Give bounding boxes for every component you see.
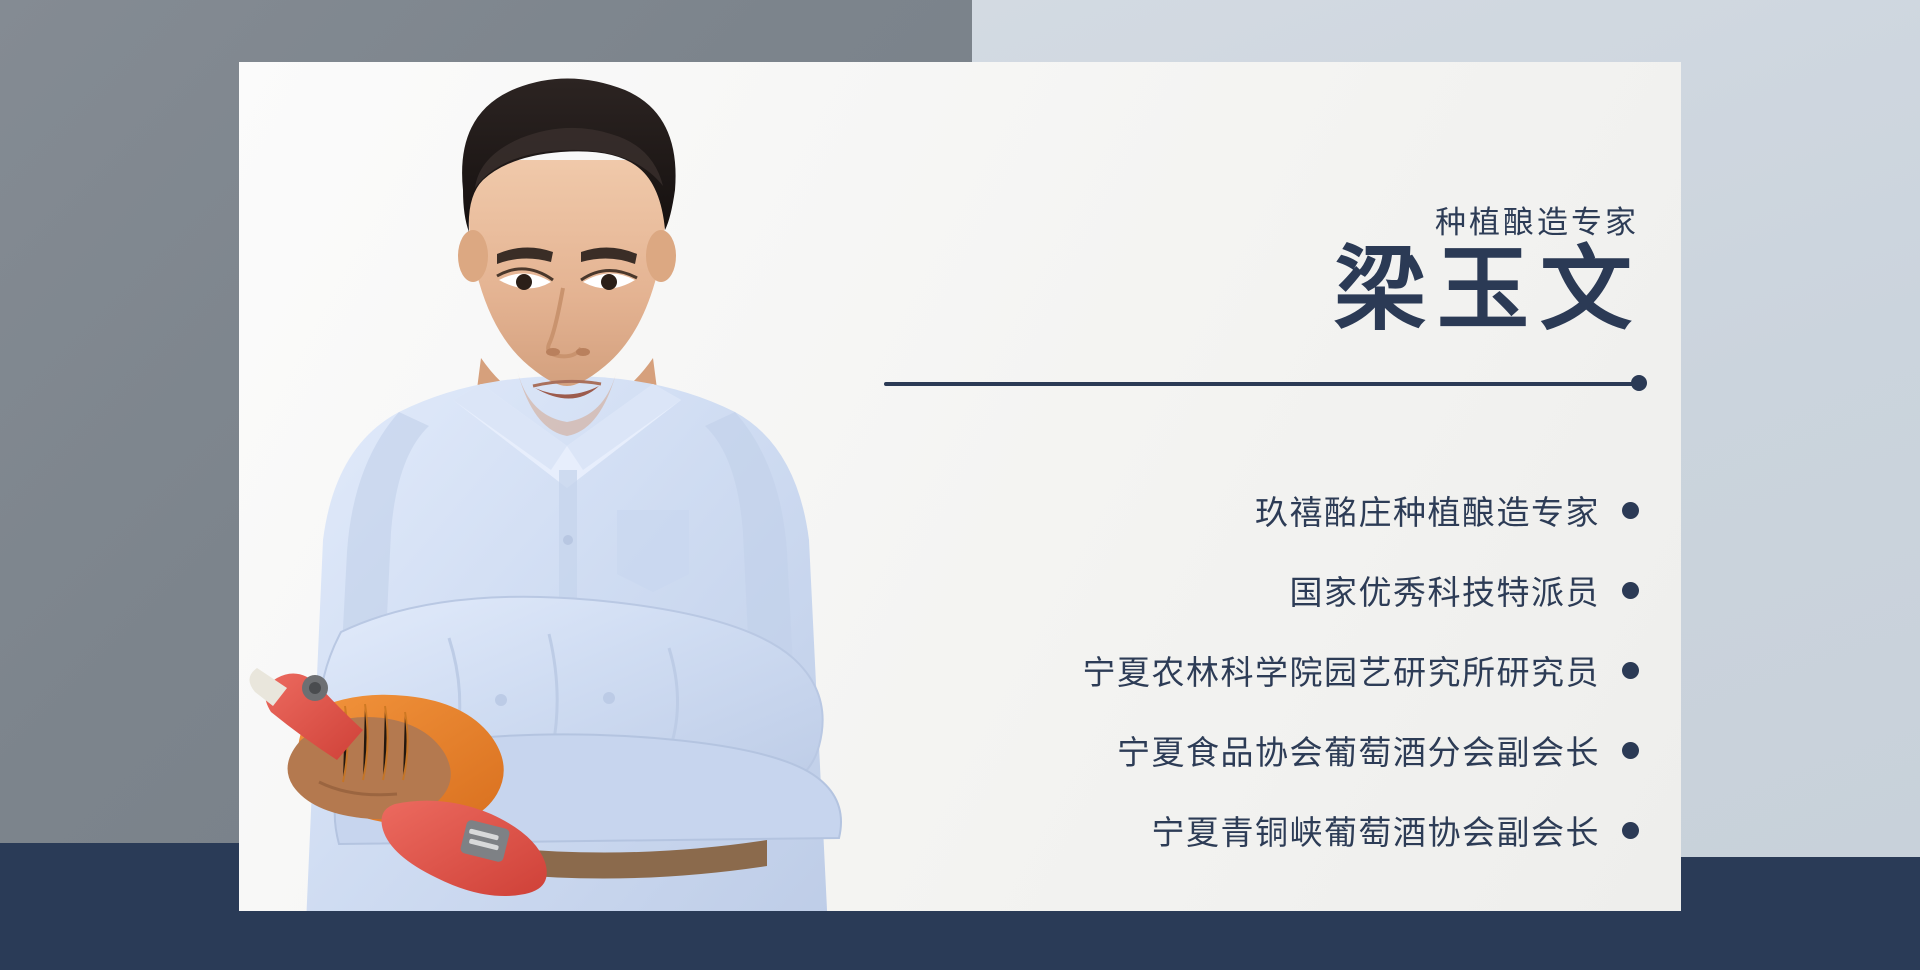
credential-list: 玖禧酩庄种植酿造专家 国家优秀科技特派员 宁夏农林科学院园艺研究所研究员 宁夏食… xyxy=(1083,486,1640,854)
profile-name: 梁玉文 xyxy=(1334,242,1643,339)
list-item: 国家优秀科技特派员 xyxy=(1290,566,1640,614)
credential-label: 宁夏农林科学院园艺研究所研究员 xyxy=(1083,646,1601,694)
profile-card: 种植酿造专家 梁玉文 玖禧酩庄种植酿造专家 国家优秀科技特派员 宁夏农林科学院园… xyxy=(239,62,1681,911)
credential-label: 宁夏食品协会葡萄酒分会副会长 xyxy=(1117,726,1600,774)
bullet-dot-icon xyxy=(1622,582,1639,599)
bullet-dot-icon xyxy=(1622,502,1639,519)
list-item: 宁夏食品协会葡萄酒分会副会长 xyxy=(1117,726,1639,774)
profile-content: 种植酿造专家 梁玉文 玖禧酩庄种植酿造专家 国家优秀科技特派员 宁夏农林科学院园… xyxy=(879,62,1681,911)
list-item: 宁夏青铜峡葡萄酒协会副会长 xyxy=(1152,806,1640,854)
bullet-dot-icon xyxy=(1622,662,1639,679)
divider-end-dot-icon xyxy=(1631,375,1647,391)
bullet-dot-icon xyxy=(1622,742,1639,759)
portrait-photo xyxy=(249,62,869,911)
list-item: 玖禧酩庄种植酿造专家 xyxy=(1255,486,1639,534)
profile-eyebrow: 种植酿造专家 xyxy=(1435,197,1639,242)
bullet-dot-icon xyxy=(1622,822,1639,839)
list-item: 宁夏农林科学院园艺研究所研究员 xyxy=(1083,646,1640,694)
credential-label: 国家优秀科技特派员 xyxy=(1290,566,1601,614)
poster-canvas: 种植酿造专家 梁玉文 玖禧酩庄种植酿造专家 国家优秀科技特派员 宁夏农林科学院园… xyxy=(0,0,1920,970)
credential-label: 玖禧酩庄种植酿造专家 xyxy=(1255,486,1600,534)
credential-label: 宁夏青铜峡葡萄酒协会副会长 xyxy=(1152,806,1601,854)
divider-line xyxy=(884,382,1637,386)
